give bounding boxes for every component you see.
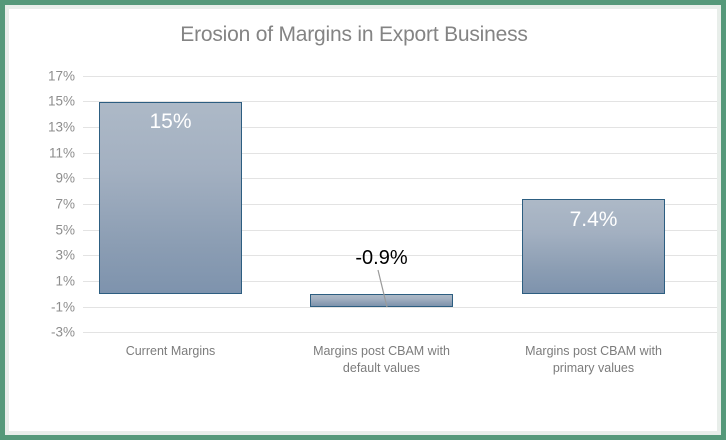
y-axis-tick-label: 11% bbox=[19, 146, 75, 161]
y-axis-tick-label: 9% bbox=[19, 171, 75, 186]
y-axis-tick-label: -3% bbox=[19, 325, 75, 340]
y-axis-tick-label: 15% bbox=[19, 94, 75, 109]
bar-label-current-margins: 15% bbox=[99, 110, 242, 134]
plot-area: 17% 15% 13% 11% 9% 7% 5% 3% 1% -1% -3% 1… bbox=[9, 9, 717, 431]
x-axis-category-line: primary values bbox=[512, 360, 675, 377]
leader-line-icon bbox=[364, 269, 404, 309]
x-axis-category-line: default values bbox=[300, 360, 463, 377]
y-axis-tick-label: 3% bbox=[19, 248, 75, 263]
y-axis-tick-label: 17% bbox=[19, 69, 75, 84]
y-axis-tick-label: 7% bbox=[19, 197, 75, 212]
y-axis-tick-label: -1% bbox=[19, 300, 75, 315]
x-axis-category-line: Margins post CBAM with bbox=[512, 343, 675, 360]
gridline bbox=[83, 332, 717, 333]
y-axis-tick-label: 13% bbox=[19, 120, 75, 135]
y-axis-tick-label: 5% bbox=[19, 223, 75, 238]
bar-label-margins-post-cbam-default: -0.9% bbox=[310, 247, 453, 270]
x-axis-category-line: Margins post CBAM with bbox=[300, 343, 463, 360]
chart-container: Erosion of Margins in Export Business 17… bbox=[9, 9, 717, 431]
x-axis-category-margins-post-cbam-primary: Margins post CBAM with primary values bbox=[512, 343, 675, 377]
bar-label-margins-post-cbam-primary: 7.4% bbox=[522, 208, 665, 232]
x-axis-category-current-margins: Current Margins bbox=[89, 343, 252, 360]
chart-screenshot: Erosion of Margins in Export Business 17… bbox=[0, 0, 726, 440]
gridline bbox=[83, 76, 717, 77]
x-axis-category-margins-post-cbam-default: Margins post CBAM with default values bbox=[300, 343, 463, 377]
x-axis-category-line: Current Margins bbox=[89, 343, 252, 360]
y-axis-tick-label: 1% bbox=[19, 274, 75, 289]
